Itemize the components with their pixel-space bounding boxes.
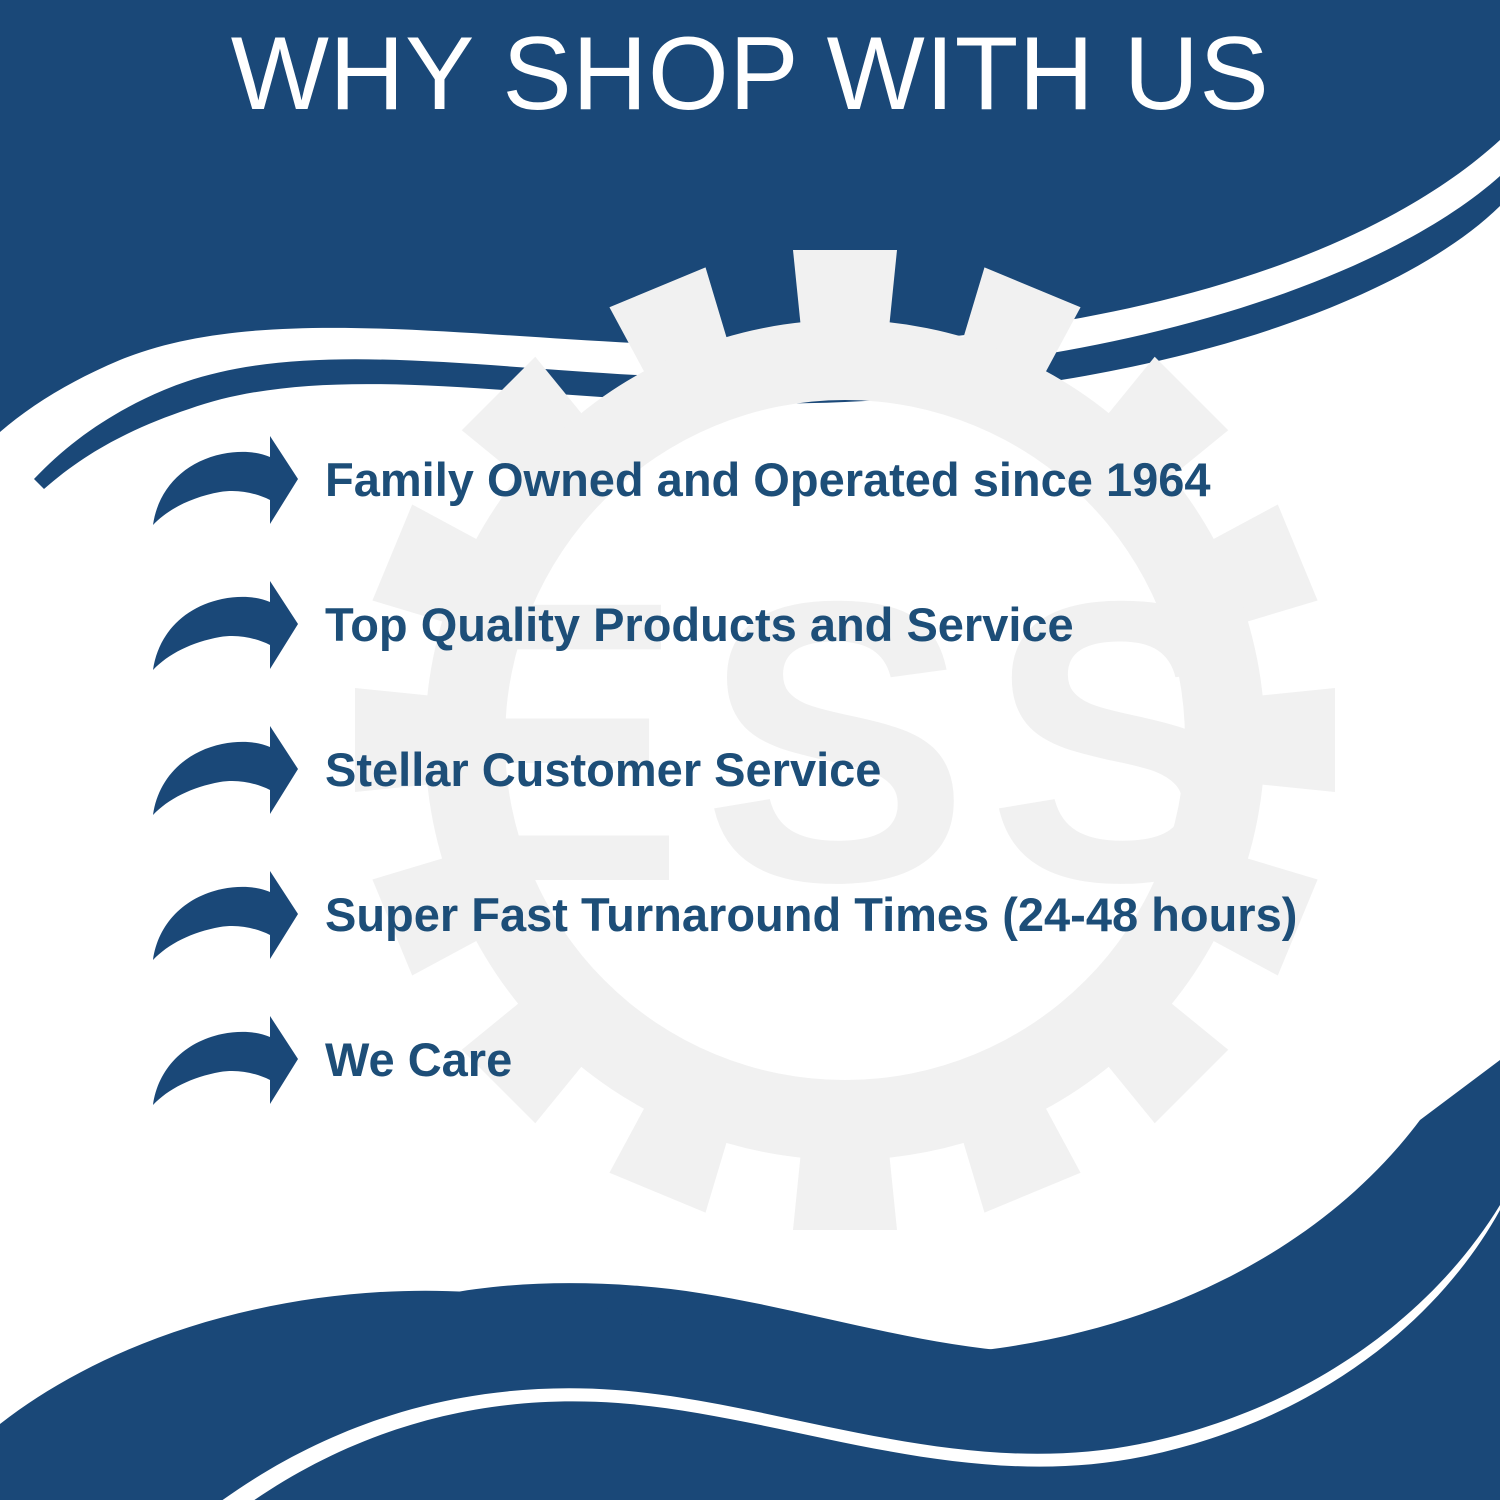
promo-graphic: ESS WHY SHOP WITH US Family Owned and Op… bbox=[0, 0, 1500, 1500]
curved-arrow-right-icon bbox=[150, 434, 300, 526]
list-item: Family Owned and Operated since 1964 bbox=[150, 430, 1450, 530]
benefit-label: Family Owned and Operated since 1964 bbox=[325, 454, 1450, 506]
curved-arrow-right-icon bbox=[150, 724, 300, 816]
benefit-label: Stellar Customer Service bbox=[325, 744, 1450, 796]
curved-arrow-right-icon bbox=[150, 869, 300, 961]
list-item: Top Quality Products and Service bbox=[150, 575, 1450, 675]
curved-arrow-right-icon bbox=[150, 1014, 300, 1106]
curved-arrow-right-icon bbox=[150, 579, 300, 671]
benefit-label: Super Fast Turnaround Times (24-48 hours… bbox=[325, 889, 1450, 941]
page-title: WHY SHOP WITH US bbox=[0, 18, 1500, 130]
list-item: We Care bbox=[150, 1010, 1450, 1110]
benefit-label: We Care bbox=[325, 1034, 1450, 1086]
benefit-label: Top Quality Products and Service bbox=[325, 599, 1450, 651]
list-item: Stellar Customer Service bbox=[150, 720, 1450, 820]
benefit-list: Family Owned and Operated since 1964 Top… bbox=[150, 430, 1450, 1110]
list-item: Super Fast Turnaround Times (24-48 hours… bbox=[150, 865, 1450, 965]
